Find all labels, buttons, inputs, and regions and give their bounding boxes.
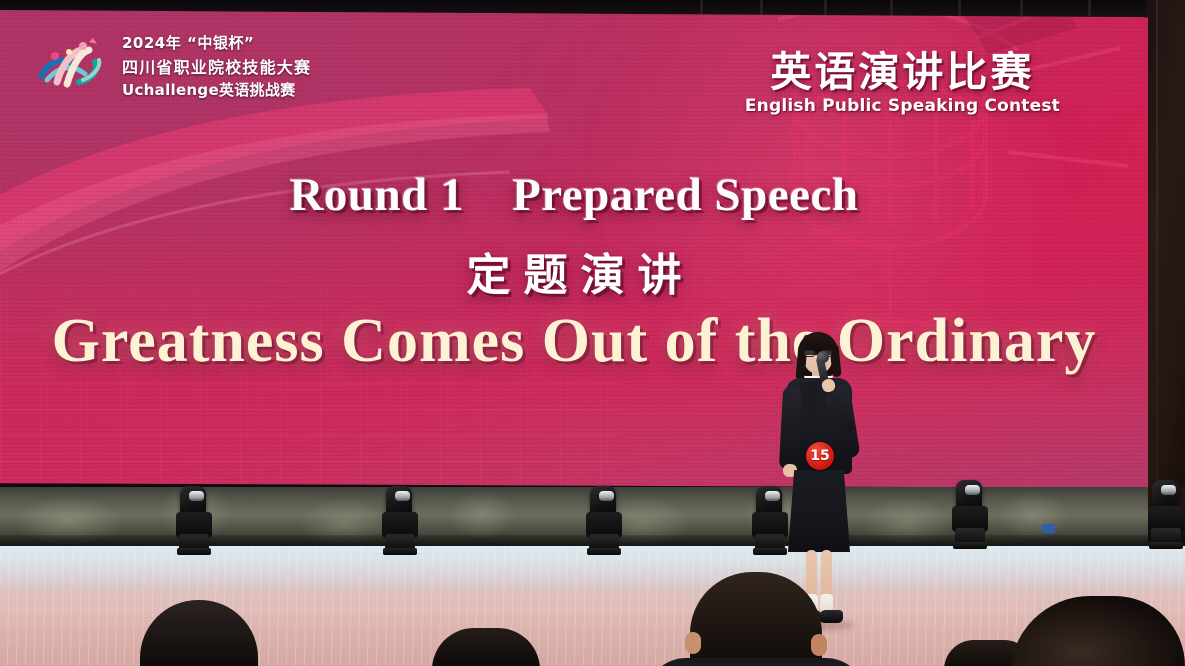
moving-head-light-6 bbox=[1148, 480, 1184, 554]
speaker-shoe-right bbox=[819, 610, 843, 623]
segment-label: Prepared Speech bbox=[512, 169, 858, 221]
hall-right-wall bbox=[1146, 0, 1185, 560]
floor-cable-connector bbox=[1042, 524, 1055, 533]
speaker-skirt bbox=[788, 470, 850, 552]
contest-title-en: English Public Speaking Contest bbox=[745, 96, 1060, 116]
round-label: Round 1 bbox=[289, 169, 464, 221]
audience-ear-right bbox=[811, 634, 827, 656]
moving-head-light-5 bbox=[952, 480, 988, 554]
audience-ear-left bbox=[685, 632, 701, 654]
branding-line-2: 四川省职业院校技能大赛 bbox=[122, 54, 311, 78]
contest-title-block: 英语演讲比赛 English Public Speaking Contest bbox=[745, 50, 1060, 116]
led-screen: 2024年 “中银杯” 四川省职业院校技能大赛 Uchallenge英语挑战赛 … bbox=[0, 10, 1148, 488]
ceiling-truss-bars bbox=[700, 0, 1185, 16]
stage-photo: 2024年 “中银杯” 四川省职业院校技能大赛 Uchallenge英语挑战赛 … bbox=[0, 0, 1185, 666]
badge-number: 15 bbox=[810, 449, 829, 463]
moving-head-light-2 bbox=[382, 486, 418, 560]
contest-title-cn: 英语演讲比赛 bbox=[745, 50, 1060, 94]
speaker-lapel-left bbox=[800, 379, 818, 425]
branding-line-3: Uchallenge英语挑战赛 bbox=[122, 79, 311, 100]
audience-shoulders-3 bbox=[646, 658, 866, 666]
branding-line-1: 2024年 “中银杯” bbox=[122, 32, 311, 53]
competition-branding-left: 2024年 “中银杯” 四川省职业院校技能大赛 Uchallenge英语挑战赛 bbox=[33, 32, 311, 100]
speech-topic: Greatness Comes Out of the Ordinary bbox=[0, 306, 1148, 377]
moving-head-light-3 bbox=[586, 486, 622, 560]
contestant-number-badge: 15 bbox=[806, 442, 834, 470]
uchallenge-logo-icon bbox=[33, 36, 113, 96]
round-heading: Round 1Prepared Speech bbox=[0, 168, 1148, 222]
segment-label-cn: 定题演讲 bbox=[0, 239, 1148, 303]
moving-head-light-1 bbox=[176, 486, 212, 560]
